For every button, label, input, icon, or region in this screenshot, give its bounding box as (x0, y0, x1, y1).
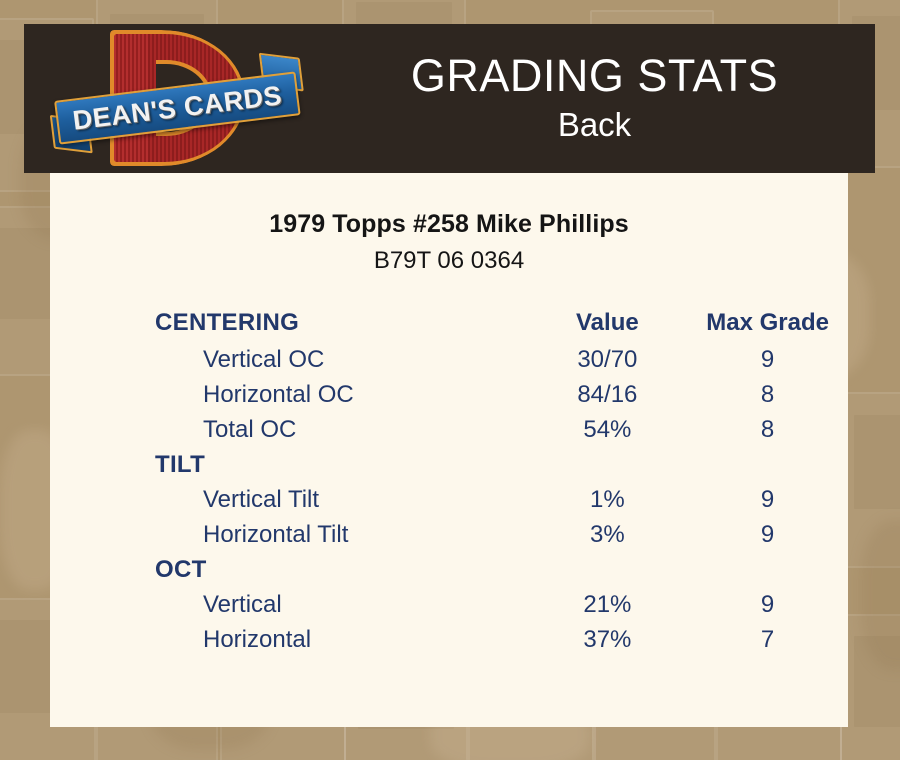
column-header-value: Value (528, 305, 688, 342)
page-title: GRADING STATS (411, 52, 778, 99)
section-header-row: OCT (50, 552, 848, 587)
stat-value: 37% (528, 622, 688, 657)
stat-row: Vertical21%9 (50, 587, 848, 622)
header-titles: GRADING STATS Back (314, 24, 875, 173)
stat-max-grade: 9 (687, 342, 848, 377)
header-bar: DEAN'S CARDS GRADING STATS Back (24, 24, 875, 173)
stat-label: Horizontal Tilt (50, 517, 528, 552)
stat-row: Vertical Tilt1%9 (50, 482, 848, 517)
stat-row: Horizontal37%7 (50, 622, 848, 657)
section-title: CENTERING (50, 305, 528, 342)
stat-max-grade: 9 (687, 517, 848, 552)
stat-row: Vertical OC30/709 (50, 342, 848, 377)
grading-stats-table: CENTERINGValueMax GradeVertical OC30/709… (50, 305, 848, 657)
section-grade-spacer (687, 447, 848, 482)
content-panel: 1979 Topps #258 Mike Phillips B79T 06 03… (50, 173, 848, 727)
card-title: 1979 Topps #258 Mike Phillips (50, 210, 848, 239)
stat-max-grade: 9 (687, 482, 848, 517)
column-header-max-grade: Max Grade (687, 305, 848, 342)
stat-value: 30/70 (528, 342, 688, 377)
section-header-row: CENTERINGValueMax Grade (50, 305, 848, 342)
stat-row: Horizontal OC84/168 (50, 377, 848, 412)
stat-label: Total OC (50, 412, 528, 447)
section-header-row: TILT (50, 447, 848, 482)
page-subtitle: Back (558, 105, 631, 145)
stat-value: 84/16 (528, 377, 688, 412)
stat-row: Total OC54%8 (50, 412, 848, 447)
stat-label: Horizontal OC (50, 377, 528, 412)
page-frame: DEAN'S CARDS GRADING STATS Back 1979 Top… (0, 0, 900, 760)
stat-value: 21% (528, 587, 688, 622)
section-value-spacer (528, 447, 688, 482)
stat-label: Vertical Tilt (50, 482, 528, 517)
stat-value: 3% (528, 517, 688, 552)
stat-max-grade: 8 (687, 377, 848, 412)
section-title: TILT (50, 447, 528, 482)
logo-ribbon-text: DEAN'S CARDS (54, 71, 301, 144)
stat-label: Horizontal (50, 622, 528, 657)
section-title: OCT (50, 552, 528, 587)
stat-value: 54% (528, 412, 688, 447)
stat-max-grade: 7 (687, 622, 848, 657)
stat-row: Horizontal Tilt3%9 (50, 517, 848, 552)
stat-label: Vertical OC (50, 342, 528, 377)
deans-cards-logo: DEAN'S CARDS (50, 24, 305, 173)
card-serial-number: B79T 06 0364 (50, 247, 848, 275)
stat-label: Vertical (50, 587, 528, 622)
section-grade-spacer (687, 552, 848, 587)
stat-max-grade: 9 (687, 587, 848, 622)
stat-max-grade: 8 (687, 412, 848, 447)
section-value-spacer (528, 552, 688, 587)
stat-value: 1% (528, 482, 688, 517)
